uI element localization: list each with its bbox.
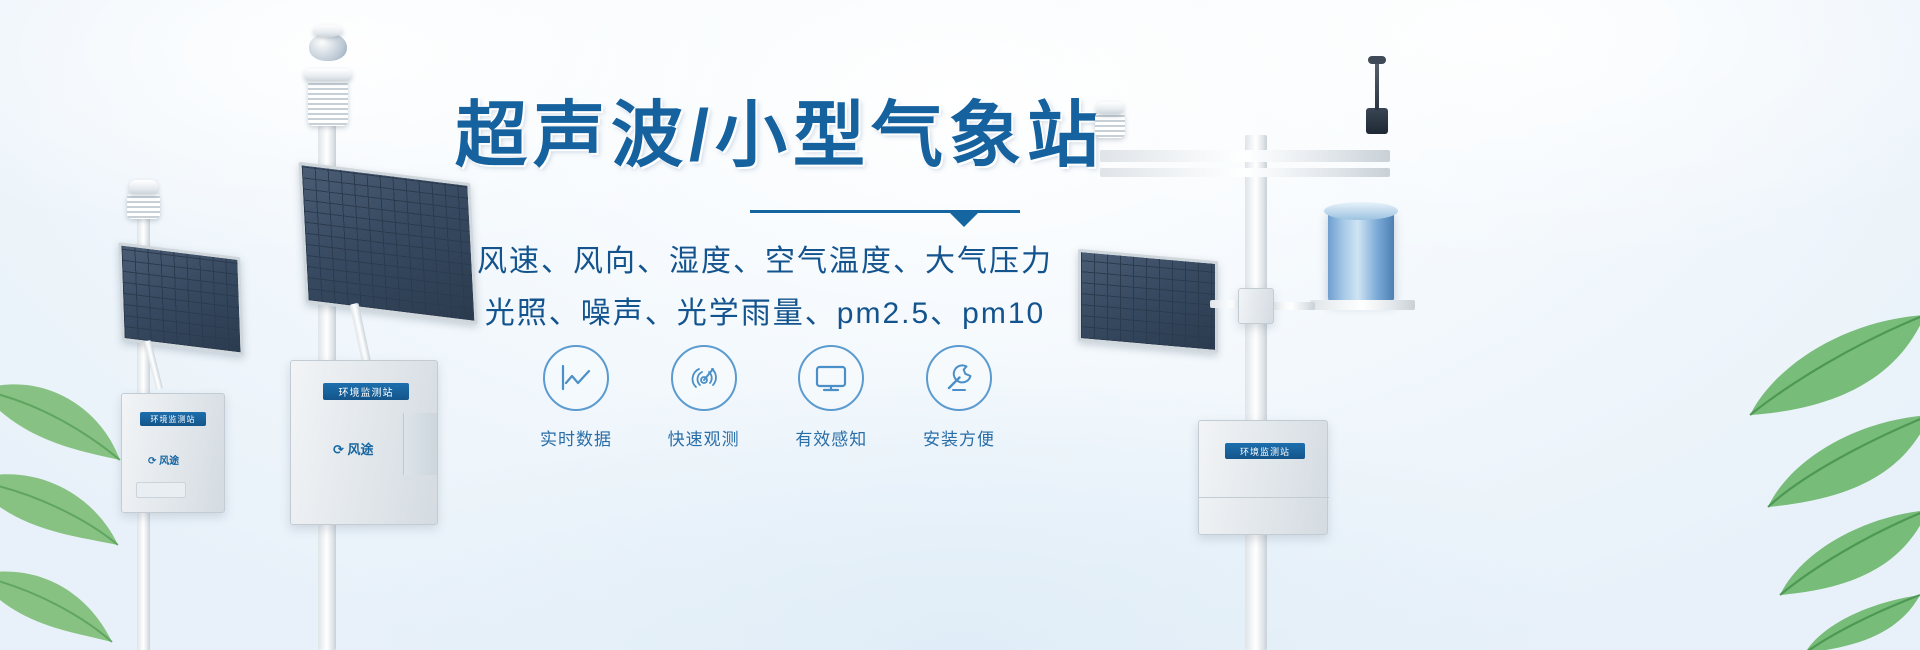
divider-line: [750, 210, 1020, 213]
cabinet-label-strip: 环境监测站: [140, 412, 206, 426]
cabinet-door-panel: [403, 413, 437, 475]
cabinet-vent: [136, 482, 186, 498]
cross-arm: [1100, 150, 1390, 162]
equipment-cabinet: 环境监测站 ⟳ 风途: [121, 393, 225, 513]
rain-gauge-funnel: [1324, 202, 1398, 220]
cabinet-label-strip: 环境监测站: [323, 383, 409, 400]
panel-support-arm: [350, 303, 372, 366]
subtitle-line-2: 光照、噪声、光学雨量、pm2.5、pm10: [455, 288, 1075, 340]
ultrasonic-wind-sensor: [1095, 112, 1125, 138]
feature-list: 实时数据 快速观测: [520, 345, 1015, 450]
divider-arrow-icon: [950, 213, 978, 227]
mast-pole: [1245, 135, 1267, 650]
palm-leaf-right: [1650, 295, 1920, 650]
feature-item-effective-sensing[interactable]: 有效感知: [775, 345, 887, 450]
sensor-dome: [309, 33, 347, 61]
solar-panel: [1078, 249, 1218, 353]
radar-signal-icon: [671, 345, 737, 411]
cross-arm-lower: [1100, 168, 1390, 177]
subtitle-line-1: 风速、风向、湿度、空气温度、大气压力: [455, 236, 1075, 288]
cabinet-door-line: [1199, 497, 1329, 498]
cabinet-label-strip: 环境监测站: [1225, 443, 1305, 459]
sensor-cap: [129, 180, 158, 194]
equipment-cabinet: 环境监测站 ⟳ 风途: [290, 360, 438, 525]
solar-panel: [298, 162, 477, 324]
banner-title: 超声波/小型气象站: [455, 95, 1075, 178]
title-divider: [750, 206, 1020, 222]
radiation-shield: [127, 193, 160, 219]
banner-text-block: 超声波/小型气象站 风速、风向、湿度、空气温度、大气压力 光照、噪声、光学雨量、…: [455, 95, 1075, 340]
feature-item-fast-observation[interactable]: 快速观测: [648, 345, 760, 450]
dome-cap: [313, 25, 343, 37]
equipment-cabinet: 环境监测站: [1198, 420, 1328, 535]
monitor-screen-icon: [798, 345, 864, 411]
feature-item-realtime-data[interactable]: 实时数据: [520, 345, 632, 450]
rod-tip: [1368, 56, 1386, 64]
shield-top-plate: [304, 69, 352, 81]
feature-label: 快速观测: [668, 425, 740, 450]
wrench-icon: [926, 345, 992, 411]
radiation-shield: [308, 80, 348, 126]
lightning-rod: [1375, 60, 1379, 110]
solar-panel: [118, 242, 243, 356]
left-small-weather-station: 环境监测站 ⟳ 风途: [95, 175, 265, 650]
brand-mark: ⟳: [333, 442, 344, 457]
product-banner: 环境监测站 ⟳ 风途 环境监测站 ⟳ 风途: [0, 0, 1920, 650]
ultrasonic-sensor-cap: [1096, 102, 1124, 114]
shelf-arm: [1267, 302, 1315, 310]
feature-label: 安装方便: [923, 425, 995, 450]
cabinet-label-text: 环境监测站: [1240, 445, 1290, 458]
feature-label: 实时数据: [540, 425, 612, 450]
brand-text: 风途: [159, 456, 179, 467]
mast-collar: [1238, 288, 1274, 324]
brand-logo: ⟳ 风途: [333, 439, 374, 458]
line-chart-icon: [543, 345, 609, 411]
rain-gauge: [1328, 210, 1394, 302]
feature-label: 有效感知: [795, 425, 867, 450]
brand-mark: ⟳: [148, 456, 156, 467]
feature-item-easy-install[interactable]: 安装方便: [903, 345, 1015, 450]
right-weather-station: 环境监测站: [1070, 50, 1450, 650]
cabinet-label-text: 环境监测站: [151, 414, 196, 425]
brand-logo: ⟳ 风途: [148, 452, 179, 467]
banner-subtitle: 风速、风向、湿度、空气温度、大气压力 光照、噪声、光学雨量、pm2.5、pm10: [455, 236, 1075, 340]
brand-text: 风途: [348, 442, 374, 457]
rain-gauge-shelf: [1310, 300, 1415, 310]
cabinet-label-text: 环境监测站: [339, 384, 394, 399]
camera-sensor: [1366, 108, 1388, 134]
